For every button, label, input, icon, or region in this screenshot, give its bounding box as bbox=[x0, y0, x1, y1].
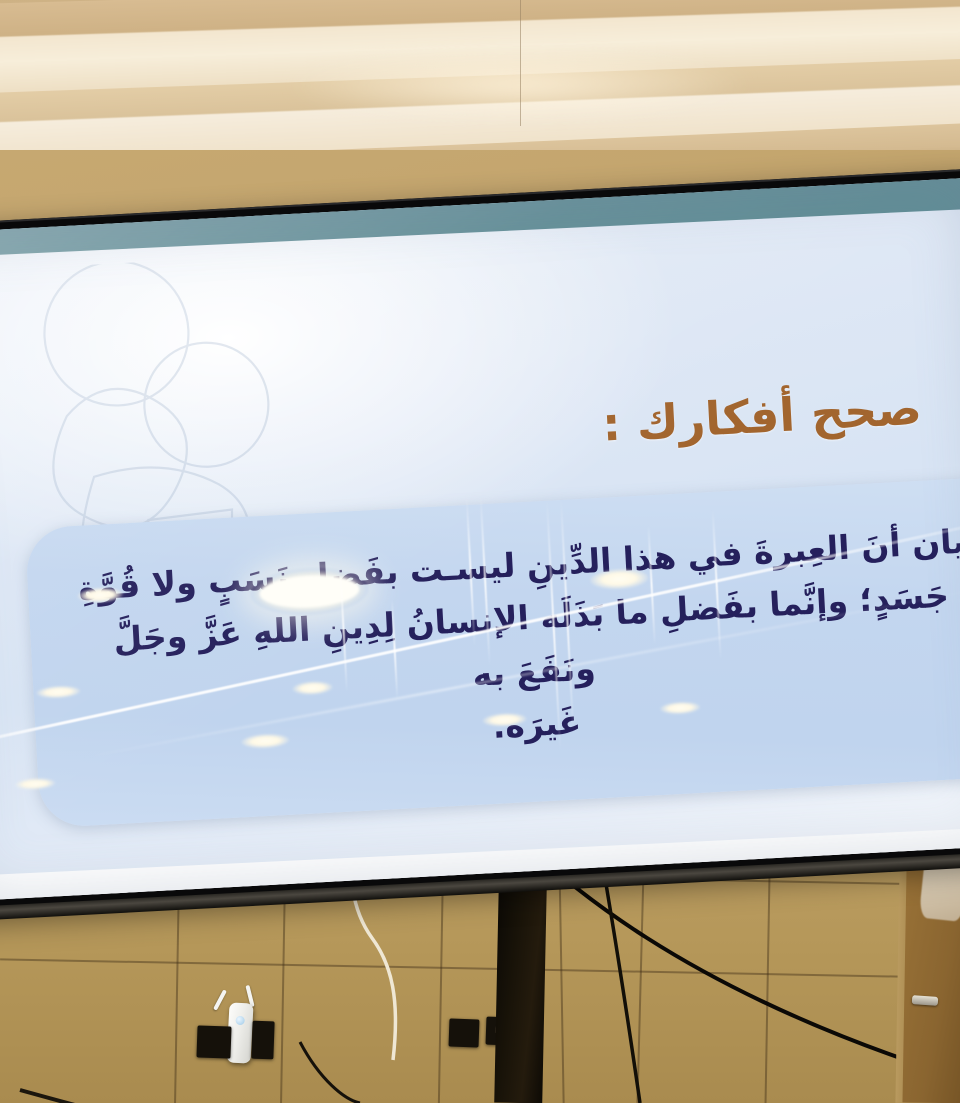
presentation-slide: صحح أفكارك : بيان أنَ العِبرةَ في هذا ال… bbox=[0, 178, 960, 901]
door-handle[interactable] bbox=[912, 995, 939, 1006]
television: صحح أفكارك : بيان أنَ العِبرةَ في هذا ال… bbox=[0, 168, 960, 913]
tv-screen[interactable]: صحح أفكارك : بيان أنَ العِبرةَ في هذا ال… bbox=[0, 178, 960, 901]
slide-body-panel: بيان أنَ العِبرةَ في هذا الدِّينِ ليسـت … bbox=[25, 475, 960, 828]
photo-scene: صحح أفكارك : بيان أنَ العِبرةَ في هذا ال… bbox=[0, 0, 960, 1103]
hanging-wire bbox=[520, 0, 521, 126]
slide-title: صحح أفكارك : bbox=[601, 381, 923, 452]
